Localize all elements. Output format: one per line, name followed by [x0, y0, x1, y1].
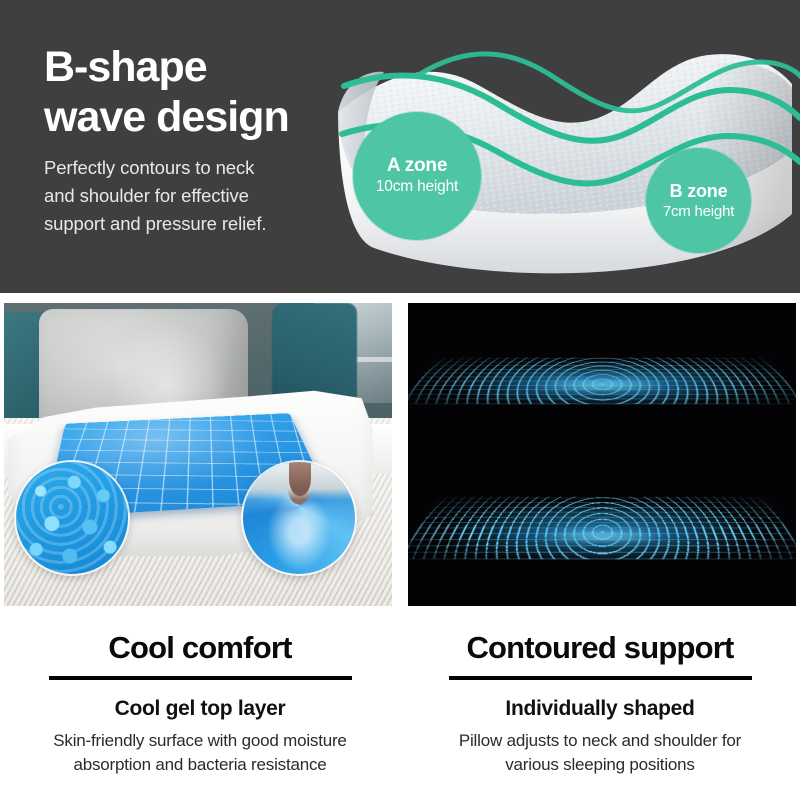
- mesh-glow-upper: [493, 373, 710, 397]
- page-title-line-2: wave design: [44, 92, 364, 142]
- hero-section: B-shape wave design Perfectly contours t…: [0, 0, 800, 293]
- inset-gel-press-icon: [243, 462, 355, 574]
- zone-a-height: 10cm height: [376, 177, 458, 197]
- feature-cool-comfort: Cool comfort Cool gel top layer Skin-fri…: [0, 612, 400, 800]
- page-title: B-shape wave design: [44, 42, 364, 142]
- feature-divider: [449, 676, 752, 680]
- inset-gel-beads-icon: [16, 462, 128, 574]
- feature-description: Pillow adjusts to neck and shoulder for …: [400, 729, 800, 777]
- zone-badge-a: A zone 10cm height: [353, 112, 481, 240]
- zone-a-name: A zone: [387, 155, 447, 177]
- photo-band: [0, 296, 800, 612]
- feature-contoured-support: Contoured support Individually shaped Pi…: [400, 612, 800, 800]
- mesh-glow-lower: [493, 524, 710, 548]
- page-title-line-1: B-shape: [44, 42, 364, 92]
- dot-mesh-scene: [408, 303, 796, 606]
- hero-text-block: B-shape wave design Perfectly contours t…: [44, 42, 364, 238]
- feature-divider: [49, 676, 352, 680]
- hero-subtitle-line-3: support and pressure relief.: [44, 210, 364, 238]
- feature-subtitle: Individually shaped: [400, 696, 800, 722]
- feature-description-line-1: Pillow adjusts to neck and shoulder for: [422, 729, 778, 753]
- photo-contoured-support: [408, 303, 796, 606]
- photo-cool-gel-pillow: [4, 303, 392, 606]
- feature-description-line-2: various sleeping positions: [422, 753, 778, 777]
- hero-subtitle-line-2: and shoulder for effective: [44, 182, 364, 210]
- feature-subtitle: Cool gel top layer: [0, 696, 400, 722]
- zone-badge-b: B zone 7cm height: [646, 148, 751, 253]
- feature-description-line-1: Skin-friendly surface with good moisture: [22, 729, 378, 753]
- feature-description-line-2: absorption and bacteria resistance: [22, 753, 378, 777]
- feature-title: Contoured support: [400, 629, 800, 667]
- zone-b-height: 7cm height: [663, 202, 734, 222]
- feature-title: Cool comfort: [0, 629, 400, 667]
- hero-subtitle-line-1: Perfectly contours to neck: [44, 154, 364, 182]
- feature-description: Skin-friendly surface with good moisture…: [0, 729, 400, 777]
- zone-b-name: B zone: [670, 180, 728, 202]
- hero-subtitle: Perfectly contours to neck and shoulder …: [44, 154, 364, 238]
- feature-band: Cool comfort Cool gel top layer Skin-fri…: [0, 612, 800, 800]
- product-infographic: B-shape wave design Perfectly contours t…: [0, 0, 800, 800]
